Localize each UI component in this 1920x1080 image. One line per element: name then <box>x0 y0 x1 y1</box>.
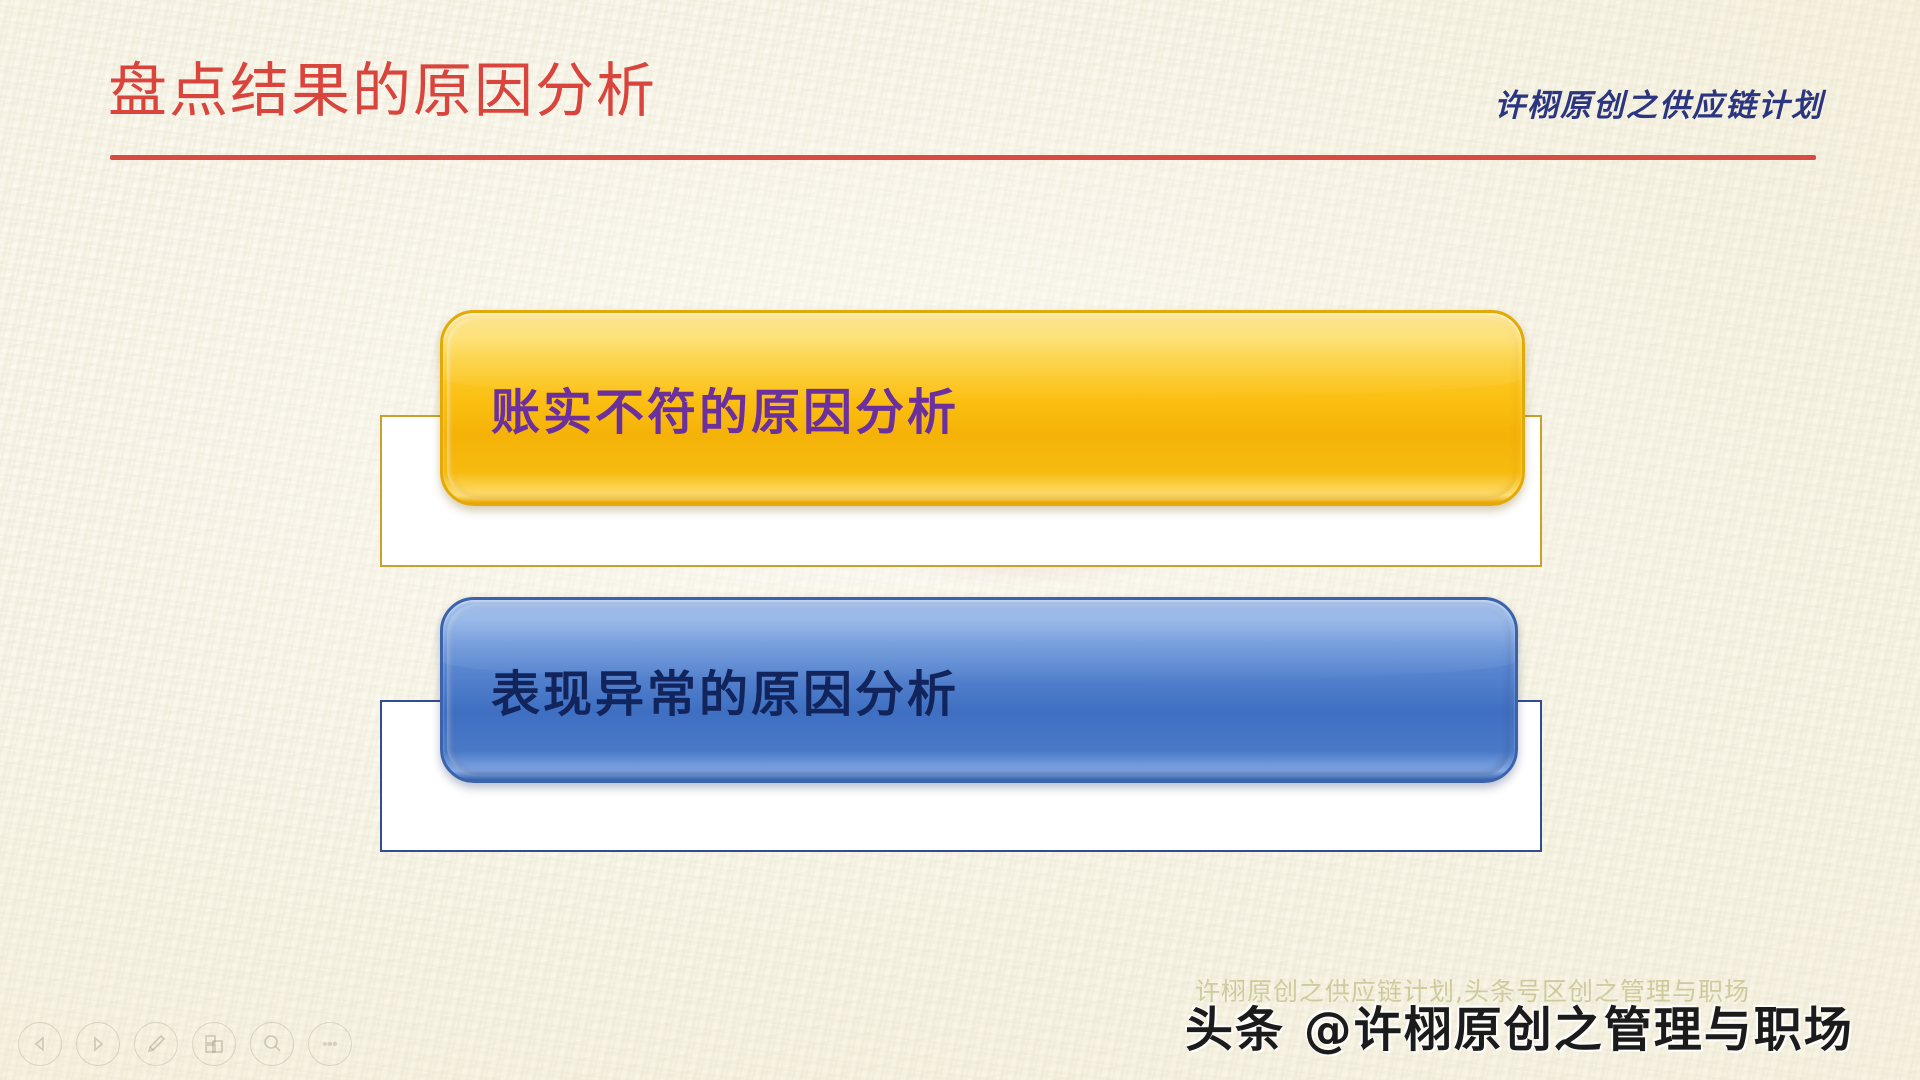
page-title: 盘点结果的原因分析 <box>108 60 657 122</box>
pen-icon <box>144 1032 168 1056</box>
title-divider-rule <box>110 155 1816 160</box>
block-1-gold-bar[interactable]: 账实不符的原因分析 <box>440 310 1525 506</box>
triangle-right-icon <box>87 1033 109 1055</box>
triangle-left-icon <box>29 1033 51 1055</box>
magnifier-icon <box>260 1032 284 1056</box>
watermark-main-text: 头条 @许栩原创之管理与职场 <box>1185 990 1854 1060</box>
next-slide-button[interactable] <box>76 1022 120 1066</box>
presenter-toolbar <box>18 1022 352 1066</box>
grid-slides-icon <box>202 1032 226 1056</box>
block-1-label: 账实不符的原因分析 <box>443 373 959 444</box>
zoom-button[interactable] <box>250 1022 294 1066</box>
ellipsis-icon <box>318 1032 342 1056</box>
block-2-blue-bar[interactable]: 表现异常的原因分析 <box>440 597 1518 783</box>
watermark-group: 许栩原创之供应链计划,头条号区创之管理与职场 头条 @许栩原创之管理与职场 <box>1185 972 1915 1062</box>
all-slides-button[interactable] <box>192 1022 236 1066</box>
block-2-label: 表现异常的原因分析 <box>443 655 959 726</box>
previous-slide-button[interactable] <box>18 1022 62 1066</box>
pen-tool-button[interactable] <box>134 1022 178 1066</box>
more-options-button[interactable] <box>308 1022 352 1066</box>
presentation-slide: 盘点结果的原因分析 许栩原创之供应链计划 账实不符的原因分析 表现异常的原因分析… <box>0 0 1920 1080</box>
series-subtitle: 许栩原创之供应链计划 <box>1494 80 1824 125</box>
